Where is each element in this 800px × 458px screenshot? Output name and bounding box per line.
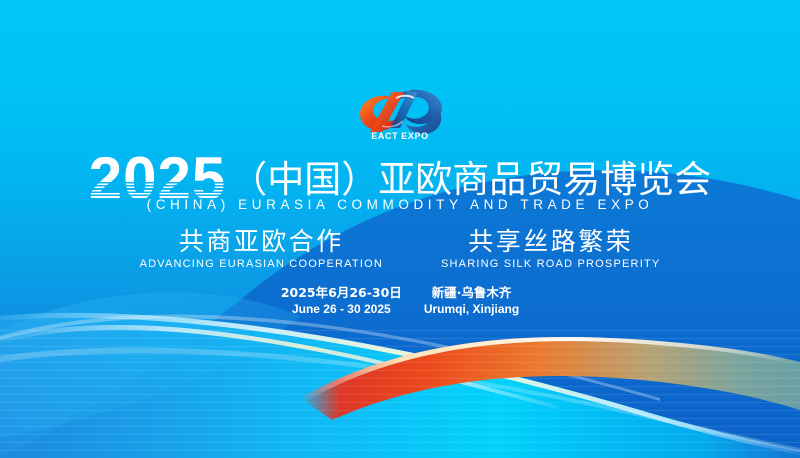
- wave-hot-ribbon: [300, 337, 800, 420]
- logo-container: EACT EXPO: [0, 84, 800, 142]
- wave-light-streak-2: [0, 314, 660, 401]
- wave-scanline-texture: [0, 330, 800, 451]
- event-date-english: June 26 - 30 2025: [281, 301, 402, 317]
- slogan-2-chinese: 共享丝路繁荣: [441, 228, 660, 256]
- event-date: 2025年6月26-30日 June 26 - 30 2025: [281, 285, 402, 317]
- event-location: 新疆·乌鲁木齐 Urumqi, Xinjiang: [424, 285, 519, 317]
- eurasia-expo-ribbon-icon: EACT EXPO: [352, 84, 448, 142]
- wave-light-streak: [0, 325, 560, 410]
- info-row: 2025年6月26-30日 June 26 - 30 2025 新疆·乌鲁木齐 …: [0, 285, 800, 317]
- slogan-1-chinese: 共商亚欧合作: [140, 228, 383, 256]
- slogan-1-english: ADVANCING EURASIAN COOPERATION: [140, 258, 383, 270]
- slogan-row: 共商亚欧合作 ADVANCING EURASIAN COOPERATION 共享…: [0, 228, 800, 270]
- slogan-2: 共享丝路繁荣 SHARING SILK ROAD PROSPERITY: [441, 228, 660, 270]
- expo-logo: EACT EXPO: [352, 84, 448, 142]
- event-location-english: Urumqi, Xinjiang: [424, 301, 519, 317]
- slogan-1: 共商亚欧合作 ADVANCING EURASIAN COOPERATION: [140, 228, 383, 270]
- event-date-chinese: 2025年6月26-30日: [281, 285, 402, 301]
- logo-wordmark: EACT EXPO: [371, 131, 428, 141]
- event-location-chinese: 新疆·乌鲁木齐: [424, 285, 519, 301]
- slogan-2-english: SHARING SILK ROAD PROSPERITY: [441, 258, 660, 270]
- wave-cyan-thin-arc: [0, 347, 800, 452]
- wave-cyan-band-highlight: [0, 313, 800, 455]
- title-english: (CHINA) EURASIA COMMODITY AND TRADE EXPO: [0, 197, 800, 212]
- wave-hot-ribbon-edge: [300, 337, 800, 402]
- wave-cyan-band: [0, 313, 800, 458]
- expo-poster: EACT EXPO 2025 2025 （中国）亚欧商品贸易博览会 (CHINA…: [0, 0, 800, 458]
